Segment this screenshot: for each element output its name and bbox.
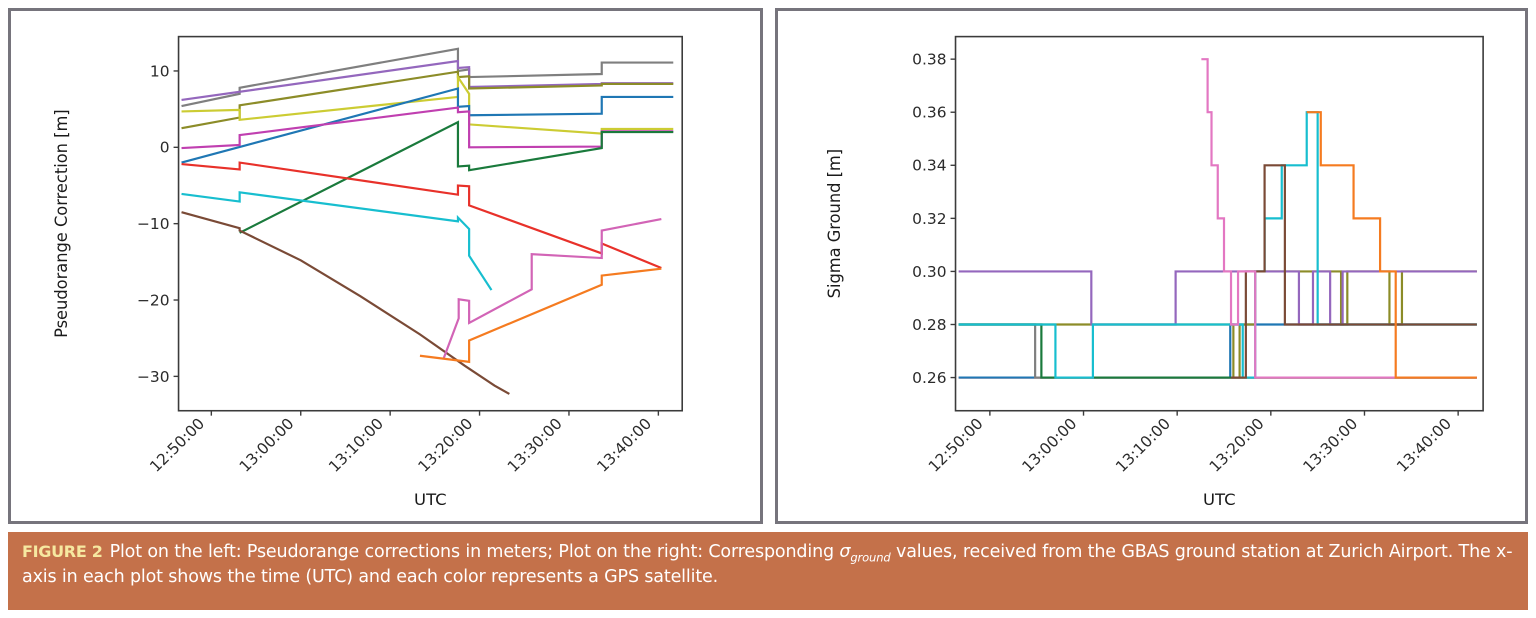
y-tick-label: 0.34 [912,157,946,175]
y-tick-label: −10 [137,215,170,233]
figure-root: 12:50:0013:00:0013:10:0013:20:0013:30:00… [0,0,1536,618]
data-series-group [959,59,1477,377]
x-tick-label: 12:50:00 [146,415,208,476]
y-tick-label: 10 [150,62,170,80]
y-tick-label: 0.36 [912,104,946,122]
series-line-sat-red [182,163,662,268]
series-line-sat-cyan-a [959,112,1477,377]
x-axis-title: UTC [1203,490,1236,509]
figure-caption-bar: FIGURE 2Plot on the left: Pseudorange co… [8,532,1528,610]
series-line-sat-orange [420,269,661,362]
series-line-sat-green [240,122,674,233]
y-tick-label: 0.28 [912,316,946,334]
x-tick-label: 13:30:00 [504,415,566,476]
y-axis-title: Pseudorange Correction [m] [52,109,71,338]
y-axis-title: Sigma Ground [m] [825,149,844,298]
x-tick-label: 13:00:00 [236,415,298,476]
caption-part-1: Plot on the left: Pseudorange correction… [110,542,840,562]
pseudorange-panel: 12:50:0013:00:0013:10:0013:20:0013:30:00… [8,8,763,524]
plot-panels: 12:50:0013:00:0013:10:0013:20:0013:30:00… [0,0,1536,524]
sigma-ground-panel: 12:50:0013:00:0013:10:0013:20:0013:30:00… [775,8,1528,524]
y-tick-label: 0 [160,139,170,157]
x-tick-label: 13:00:00 [1019,415,1081,476]
figure-number-label: FIGURE 2 [22,542,103,561]
y-tick-label: 0.32 [912,210,946,228]
x-tick-label: 13:20:00 [1206,415,1268,476]
y-tick-label: −20 [137,292,170,310]
x-tick-label: 13:10:00 [325,415,387,476]
y-tick-label: 0.38 [912,51,946,69]
sigma-symbol: σground [839,542,890,562]
x-tick-label: 12:50:00 [925,415,987,476]
sigma-ground-chart: 12:50:0013:00:0013:10:0013:20:0013:30:00… [778,11,1525,521]
data-series-group [182,49,674,394]
series-line-sat-blue [959,324,1477,377]
series-line-sat-purple [959,271,1477,324]
x-tick-label: 13:10:00 [1112,415,1174,476]
series-line-sat-brown [182,212,510,394]
y-tick-label: −30 [137,368,170,386]
plot-frame [179,37,683,411]
series-line-sat-purple [182,61,674,100]
y-tick-label: 0.26 [912,369,946,387]
x-tick-label: 13:30:00 [1299,415,1361,476]
series-line-sat-green [959,324,1477,377]
x-tick-label: 13:20:00 [415,415,477,476]
pseudorange-chart: 12:50:0013:00:0013:10:0013:20:0013:30:00… [11,11,760,521]
series-line-sat-cyan [182,192,492,290]
series-line-sat-orange [1307,112,1477,377]
figure-caption-text: FIGURE 2Plot on the left: Pseudorange co… [22,541,1514,588]
y-tick-label: 0.30 [912,263,946,281]
series-line-sat-gray [959,324,1477,377]
x-axis-title: UTC [414,490,447,509]
x-tick-label: 13:40:00 [593,415,655,476]
x-tick-label: 13:40:00 [1393,415,1455,476]
